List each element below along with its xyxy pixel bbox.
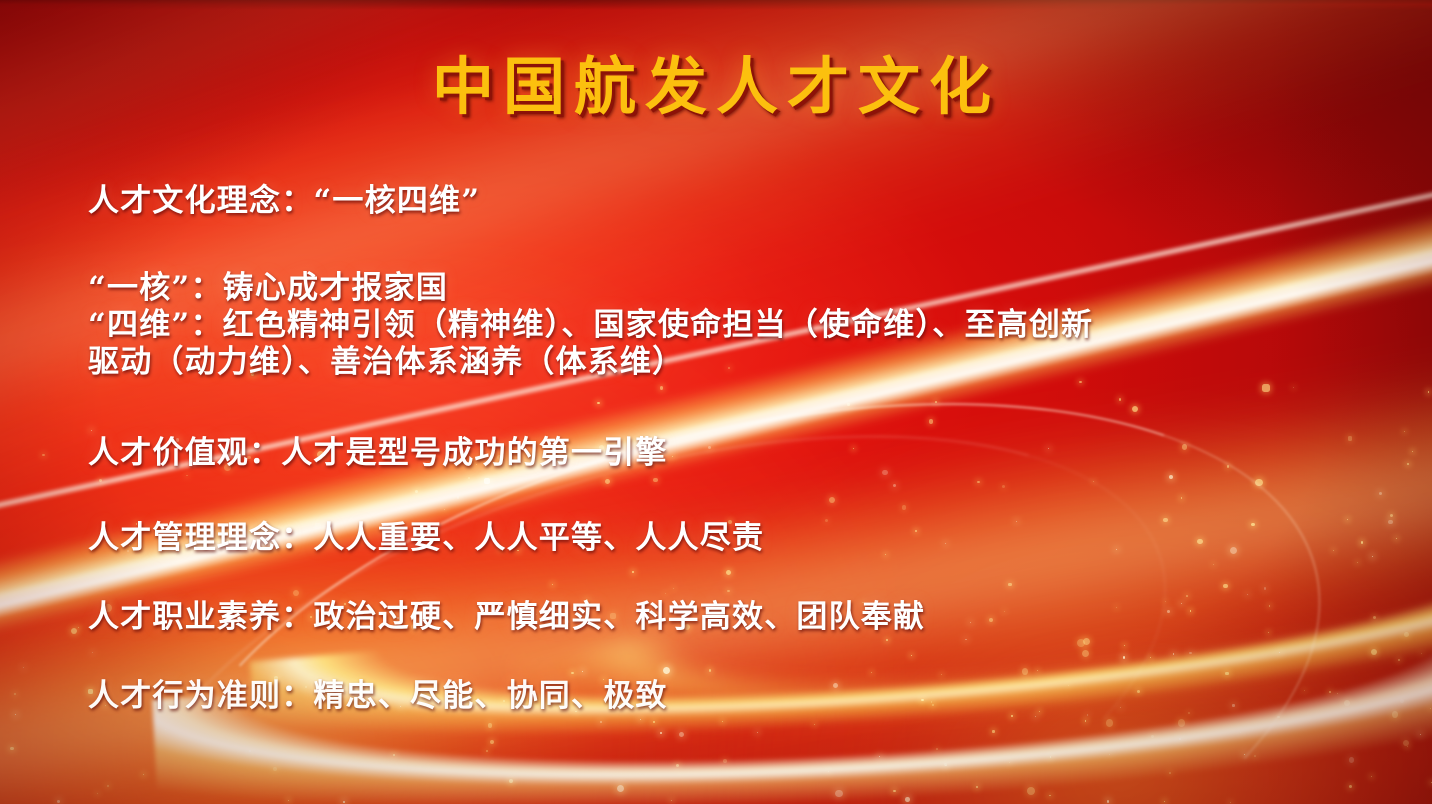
slide-body: 人才文化理念：“一核四维” “一核”：铸心成才报家国 “四维”：红色精神引领（精… (88, 186, 1378, 712)
slide-title: 中国航发人才文化 (0, 54, 1432, 119)
text-line-management-concept: 人才管理理念：人人重要、人人平等、人人尽责 (88, 523, 1378, 554)
text-line-one-core: “一核”：铸心成才报家国 (88, 273, 1378, 304)
text-line-talent-values: 人才价值观：人才是型号成功的第一引擎 (88, 438, 1378, 469)
spacer-4 (88, 554, 1378, 602)
text-line-four-dimensions-2: 驱动（动力维）、善治体系涵养（体系维） (88, 347, 1378, 378)
spacer-5 (88, 633, 1378, 681)
spacer-1 (88, 217, 1378, 273)
text-line-conduct-guidelines: 人才行为准则：精忠、尽能、协同、极致 (88, 681, 1378, 712)
spacer-3 (88, 469, 1378, 523)
slide-content: 中国航发人才文化 人才文化理念：“一核四维” “一核”：铸心成才报家国 “四维”… (0, 0, 1432, 804)
text-line-culture-concept: 人才文化理念：“一核四维” (88, 186, 1378, 217)
text-line-professional-quality: 人才职业素养：政治过硬、严慎细实、科学高效、团队奉献 (88, 602, 1378, 633)
text-line-four-dimensions-1: “四维”：红色精神引领（精神维）、国家使命担当（使命维）、至高创新 (88, 310, 1378, 341)
presentation-slide: 中国航发人才文化 人才文化理念：“一核四维” “一核”：铸心成才报家国 “四维”… (0, 0, 1432, 804)
spacer-2 (88, 378, 1378, 438)
